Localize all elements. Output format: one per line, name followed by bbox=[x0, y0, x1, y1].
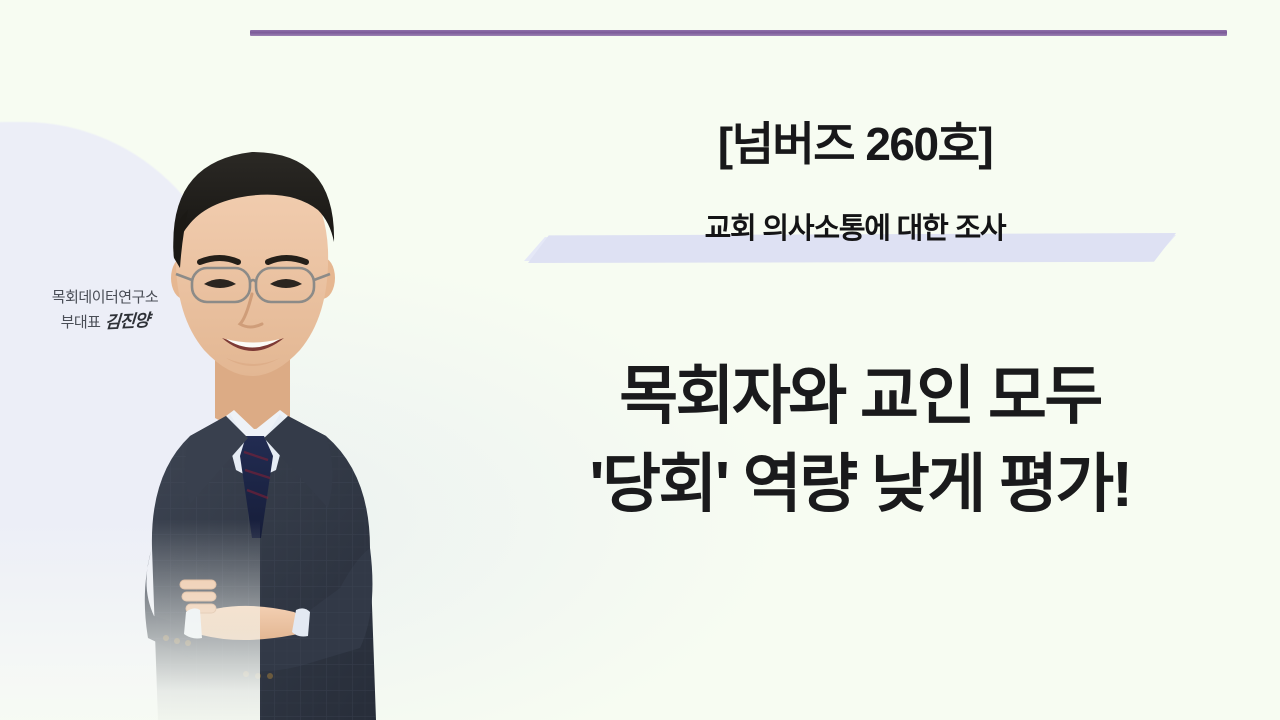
headline-line-2: '당회' 역량 낮게 평가! bbox=[480, 440, 1240, 528]
speaker-name: 김진양 bbox=[105, 308, 150, 337]
speaker-organization: 목회데이터연구소 bbox=[20, 286, 190, 309]
blob-bottom-fade bbox=[0, 520, 260, 720]
speaker-role-row: 부대표 김진양 bbox=[20, 309, 190, 335]
subtitle-text: 교회 의사소통에 대한 조사 bbox=[500, 205, 1210, 267]
top-divider-rule bbox=[250, 30, 1227, 36]
headline: 목회자와 교인 모두 '당회' 역량 낮게 평가! bbox=[480, 352, 1240, 529]
speaker-role: 부대표 bbox=[61, 311, 101, 334]
issue-label: [넘버즈 260호] bbox=[500, 108, 1210, 174]
subtitle-block: 교회 의사소통에 대한 조사 bbox=[500, 205, 1210, 267]
speaker-caption: 목회데이터연구소 부대표 김진양 bbox=[20, 286, 190, 336]
headline-line-1: 목회자와 교인 모두 bbox=[480, 352, 1240, 440]
slide-canvas: 목회데이터연구소 부대표 김진양 [넘버즈 260호] 교회 의사소통에 대한 … bbox=[0, 0, 1280, 720]
